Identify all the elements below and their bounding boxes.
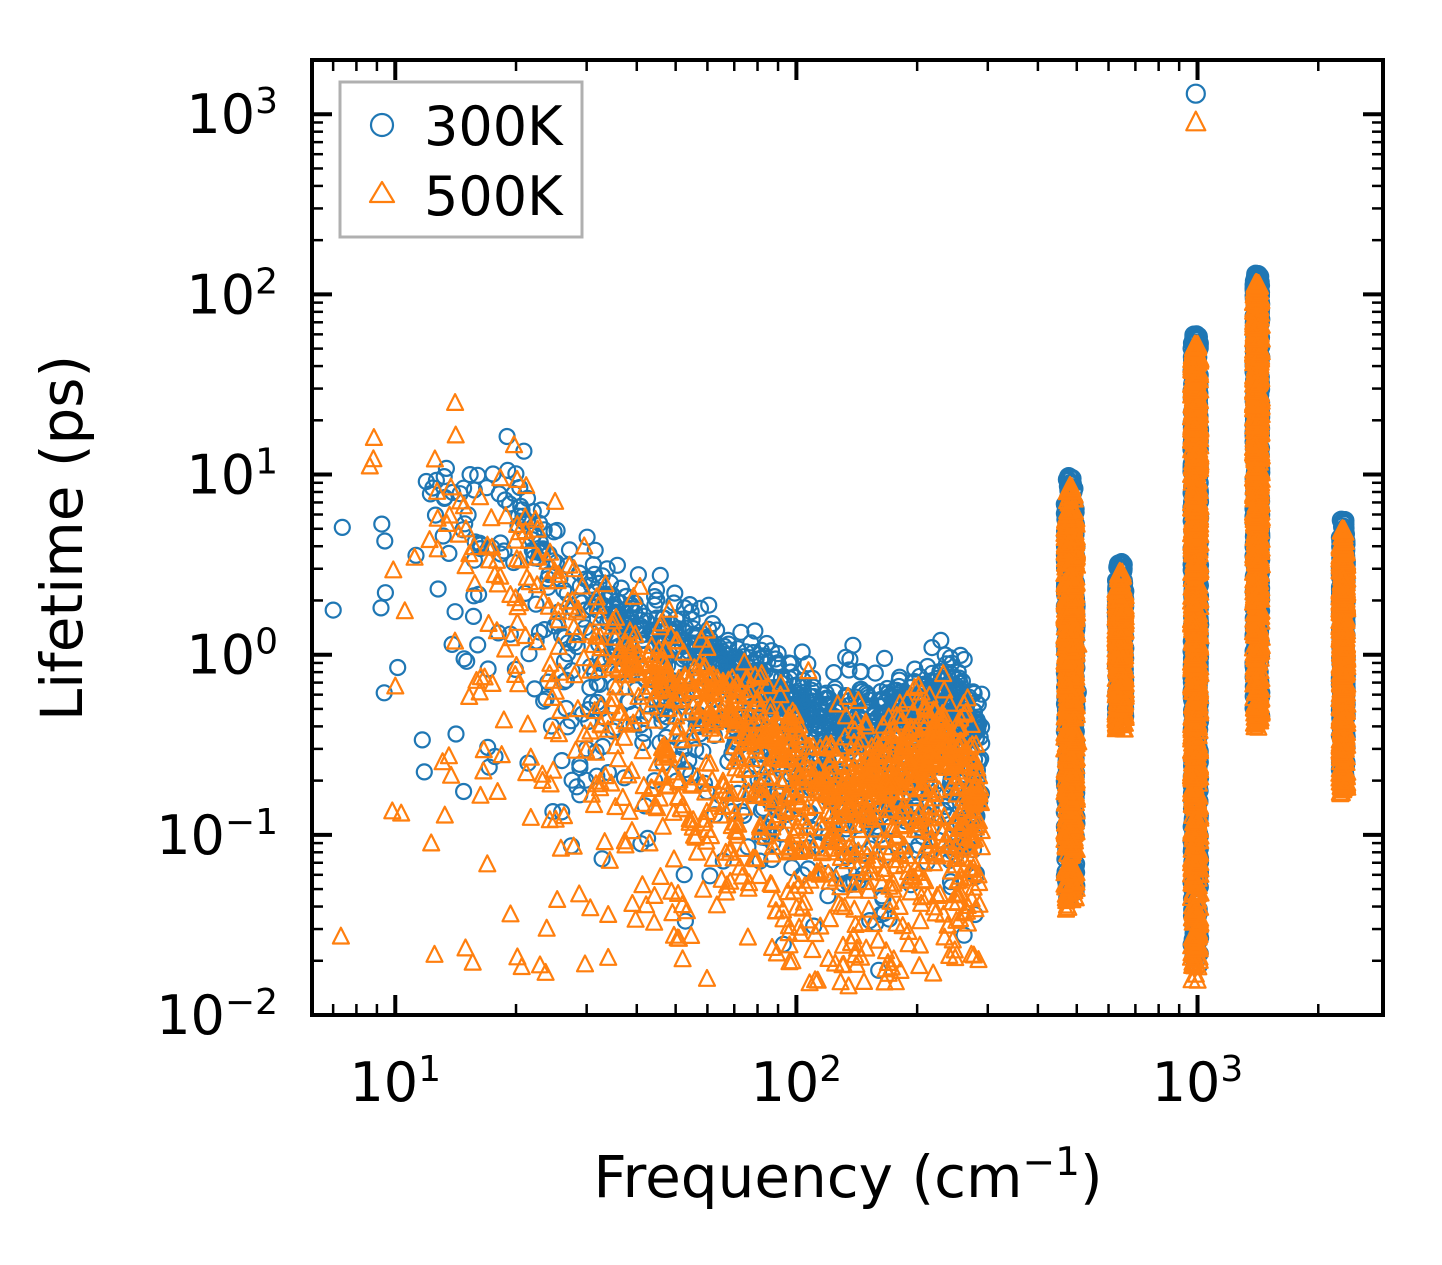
data-point-500k (675, 950, 691, 966)
data-point-300k (466, 609, 481, 624)
scatter-plot-canvas: 101102103 10−210−1100101102103 Frequency… (0, 0, 1442, 1265)
data-point-300k (1187, 85, 1205, 103)
data-point-300k (826, 665, 841, 680)
data-point-300k (610, 558, 625, 573)
data-point-300k (415, 732, 430, 747)
data-point-300k (795, 645, 810, 660)
data-point-500k (385, 562, 401, 578)
data-point-300k (417, 764, 432, 779)
data-point-300k (554, 753, 569, 768)
data-point-300k (448, 604, 463, 619)
data-point-300k (378, 585, 393, 600)
data-point-300k (845, 638, 860, 653)
data-point-300k (456, 784, 471, 799)
data-point-500k (509, 614, 525, 630)
data-point-300k (784, 860, 799, 875)
data-point-300k (562, 542, 577, 557)
data-point-300k (374, 600, 389, 615)
data-point-300k (390, 660, 405, 675)
data-point-300k (449, 727, 464, 742)
phonon-lifetime-figure: 101102103 10−210−1100101102103 Frequency… (0, 0, 1442, 1265)
data-point-300k (377, 534, 392, 549)
data-point-300k (374, 517, 389, 532)
data-point-300k (537, 622, 552, 637)
data-point-300k (653, 568, 668, 583)
data-point-300k (572, 757, 587, 772)
data-point-300k (667, 586, 682, 601)
data-point-300k (470, 637, 485, 652)
data-point-300k (431, 582, 446, 597)
data-point-300k (877, 651, 892, 666)
data-point-300k (461, 507, 476, 522)
data-point-300k (586, 557, 601, 572)
data-point-300k (677, 867, 692, 882)
data-point-300k (702, 868, 717, 883)
data-point-300k (326, 603, 341, 618)
data-point-300k (868, 666, 883, 681)
data-point-300k (335, 520, 350, 535)
data-point-500k (387, 678, 403, 694)
